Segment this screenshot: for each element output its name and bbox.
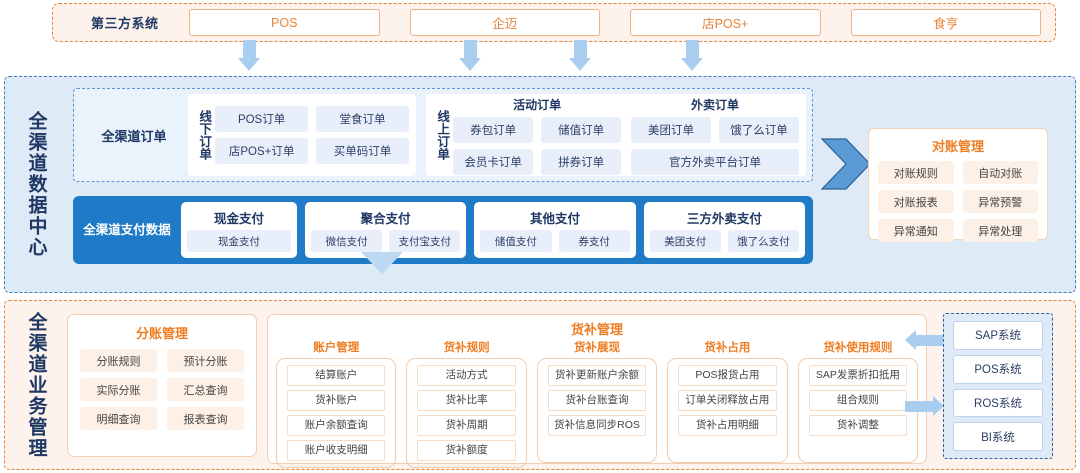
order-chip[interactable]: 官方外卖平台订单 — [631, 149, 799, 175]
online-order-card: 线上订单 活动订单 券包订单 储值订单 会员卡订单 拼券订单 外卖订单 美团订单… — [426, 94, 806, 176]
payment-group-items: 微信支付 支付宝支付 — [311, 230, 460, 252]
huobu-chip[interactable]: 订单关闭释放占用 — [678, 390, 776, 411]
order-chip[interactable]: 买单码订单 — [316, 138, 409, 164]
omni-channel-order-section: 全渠道订单 线下订单 POS订单 堂食订单 店POS+订单 买单码订单 线上订单… — [73, 88, 813, 182]
business-management-container: 全渠道业务管理 分账管理 分账规则 预计分账 实际分账 汇总查询 明细查询 报表… — [4, 300, 1076, 470]
huobu-chip[interactable]: 活动方式 — [417, 365, 515, 386]
down-arrow-icon — [681, 40, 703, 71]
payment-chip[interactable]: 支付宝支付 — [389, 230, 460, 252]
huobu-management-title: 货补管理 — [276, 319, 918, 338]
payment-chip[interactable]: 微信支付 — [311, 230, 382, 252]
huobu-column-title: 货补使用规则 — [798, 339, 918, 355]
split-account-chip[interactable]: 明细查询 — [80, 407, 157, 430]
huobu-chip[interactable]: 货补信息同步ROS — [548, 415, 646, 436]
payment-section-title: 全渠道支付数据 — [81, 222, 173, 238]
huobu-columns: 账户管理 结算账户 货补账户 账户余额查询 账户收支明细 货补规则 活动方式 货… — [276, 339, 918, 463]
payment-chip[interactable]: 储值支付 — [480, 230, 551, 252]
third-party-system-item[interactable]: 食亨 — [851, 9, 1042, 36]
huobu-column-title: 货补占用 — [667, 339, 787, 355]
huobu-chip[interactable]: 货补更新账户余额 — [548, 365, 646, 386]
down-triangle-icon — [361, 252, 403, 274]
split-account-items: 分账规则 预计分账 实际分账 汇总查询 明细查询 报表查询 — [80, 349, 244, 430]
huobu-column: 货补占用 POS报货占用 订单关闭释放占用 货补占用明细 — [667, 339, 787, 463]
split-account-title: 分账管理 — [80, 323, 244, 342]
huobu-column-items: 货补更新账户余额 货补台账查询 货补信息同步ROS — [537, 358, 657, 463]
external-system-item[interactable]: SAP系统 — [953, 321, 1043, 350]
external-system-item[interactable]: POS系统 — [953, 355, 1043, 384]
offline-order-tag: 线下订单 — [197, 110, 210, 160]
business-side-label: 全渠道业务管理 — [19, 301, 53, 469]
reconciliation-management-card: 对账管理 对账规则 自动对账 对账报表 异常预警 异常通知 异常处理 — [868, 128, 1048, 240]
order-chip[interactable]: 店POS+订单 — [215, 138, 308, 164]
payment-group-card: 现金支付 现金支付 — [181, 202, 297, 258]
huobu-chip[interactable]: 结算账户 — [287, 365, 385, 386]
offline-order-card: 线下订单 POS订单 堂食订单 店POS+订单 买单码订单 — [188, 94, 416, 176]
external-systems-container: SAP系统 POS系统 ROS系统 BI系统 — [943, 313, 1053, 459]
chevron-right-icon — [820, 133, 872, 200]
order-chip[interactable]: 储值订单 — [541, 117, 621, 143]
payment-group-title: 三方外卖支付 — [650, 208, 799, 227]
split-account-chip[interactable]: 汇总查询 — [167, 378, 244, 401]
huobu-chip[interactable]: 组合规则 — [809, 390, 907, 411]
right-arrow-icon — [905, 396, 944, 416]
huobu-column: 货补使用规则 SAP发票折扣抵用 组合规则 货补调整 — [798, 339, 918, 463]
huobu-column: 货补规则 活动方式 货补比率 货补周期 货补额度 — [406, 339, 526, 463]
huobu-column-items: POS报货占用 订单关闭释放占用 货补占用明细 — [667, 358, 787, 463]
third-party-system-item[interactable]: 店POS+ — [630, 9, 821, 36]
order-chip[interactable]: 美团订单 — [631, 117, 711, 143]
omni-channel-payment-section: 全渠道支付数据 现金支付 现金支付 聚合支付 微信支付 支付宝支付 其他支付 储… — [73, 196, 813, 264]
reconciliation-title: 对账管理 — [878, 136, 1038, 155]
data-center-side-label: 全渠道数据中心 — [19, 77, 53, 292]
third-party-systems-container: 第三方系统 POS 企迈 店POS+ 食亨 — [52, 3, 1056, 42]
order-chip[interactable]: 会员卡订单 — [453, 149, 533, 175]
huobu-column: 货补展现 货补更新账户余额 货补台账查询 货补信息同步ROS — [537, 339, 657, 463]
third-party-system-item[interactable]: POS — [189, 9, 380, 36]
offline-order-items: POS订单 堂食订单 店POS+订单 买单码订单 — [215, 106, 409, 164]
order-chip[interactable]: 拼券订单 — [541, 149, 621, 175]
data-center-side-label-text: 全渠道数据中心 — [27, 111, 46, 258]
order-chip[interactable]: 券包订单 — [453, 117, 533, 143]
reconciliation-chip[interactable]: 自动对账 — [963, 161, 1039, 184]
left-arrow-icon — [905, 330, 944, 350]
split-account-chip[interactable]: 实际分账 — [80, 378, 157, 401]
payment-chip[interactable]: 现金支付 — [187, 230, 291, 252]
order-chip[interactable]: POS订单 — [215, 106, 308, 132]
payment-group-items: 现金支付 — [187, 230, 291, 252]
order-section-title: 全渠道订单 — [80, 126, 188, 145]
third-party-label: 第三方系统 — [67, 13, 189, 32]
split-account-chip[interactable]: 分账规则 — [80, 349, 157, 372]
activity-order-group: 活动订单 券包订单 储值订单 会员卡订单 拼券订单 — [453, 96, 621, 175]
down-arrow-icon — [569, 40, 591, 71]
reconciliation-chip[interactable]: 异常处理 — [963, 219, 1039, 242]
order-chip[interactable]: 饿了么订单 — [719, 117, 799, 143]
payment-group-title: 现金支付 — [187, 208, 291, 227]
payment-group-card: 其他支付 储值支付 券支付 — [474, 202, 635, 258]
takeaway-order-title: 外卖订单 — [631, 96, 799, 113]
external-system-item[interactable]: ROS系统 — [953, 389, 1043, 418]
payment-group-items: 美团支付 饿了么支付 — [650, 230, 799, 252]
huobu-column-title: 货补展现 — [537, 339, 657, 355]
activity-order-items: 券包订单 储值订单 会员卡订单 拼券订单 — [453, 117, 621, 175]
huobu-chip[interactable]: 货补台账查询 — [548, 390, 646, 411]
huobu-column-items: SAP发票折扣抵用 组合规则 货补调整 — [798, 358, 918, 463]
payment-group-title: 聚合支付 — [311, 208, 460, 227]
huobu-management-card: 货补管理 账户管理 结算账户 货补账户 账户余额查询 账户收支明细 货补规则 活… — [267, 314, 927, 464]
payment-group-card: 聚合支付 微信支付 支付宝支付 — [305, 202, 466, 258]
reconciliation-chip[interactable]: 对账规则 — [878, 161, 954, 184]
third-party-system-list: POS 企迈 店POS+ 食亨 — [189, 9, 1041, 36]
huobu-column-title: 货补规则 — [406, 339, 526, 355]
huobu-chip[interactable]: SAP发票折扣抵用 — [809, 365, 907, 386]
activity-order-title: 活动订单 — [453, 96, 621, 113]
huobu-chip[interactable]: 货补调整 — [809, 415, 907, 436]
payment-group-title: 其他支付 — [480, 208, 629, 227]
split-account-chip[interactable]: 报表查询 — [167, 407, 244, 430]
payment-chip[interactable]: 美团支付 — [650, 230, 721, 252]
split-account-management-card: 分账管理 分账规则 预计分账 实际分账 汇总查询 明细查询 报表查询 — [67, 314, 257, 457]
order-chip[interactable]: 堂食订单 — [316, 106, 409, 132]
huobu-chip[interactable]: 货补周期 — [417, 415, 515, 436]
huobu-chip[interactable]: 账户收支明细 — [287, 440, 385, 461]
third-party-system-item[interactable]: 企迈 — [410, 9, 601, 36]
business-side-label-text: 全渠道业务管理 — [27, 312, 46, 459]
payment-group-card: 三方外卖支付 美团支付 饿了么支付 — [644, 202, 805, 258]
huobu-column-title: 账户管理 — [276, 339, 396, 355]
takeaway-order-group: 外卖订单 美团订单 饿了么订单 官方外卖平台订单 — [631, 96, 799, 175]
takeaway-order-items: 美团订单 饿了么订单 官方外卖平台订单 — [631, 117, 799, 175]
payment-group-items: 储值支付 券支付 — [480, 230, 629, 252]
huobu-column-items: 结算账户 货补账户 账户余额查询 账户收支明细 — [276, 358, 396, 468]
huobu-column-items: 活动方式 货补比率 货补周期 货补额度 — [406, 358, 526, 468]
payment-chip[interactable]: 饿了么支付 — [728, 230, 799, 252]
huobu-column: 账户管理 结算账户 货补账户 账户余额查询 账户收支明细 — [276, 339, 396, 463]
huobu-chip[interactable]: 货补比率 — [417, 390, 515, 411]
online-order-tag: 线上订单 — [435, 110, 448, 160]
reconciliation-chip[interactable]: 异常通知 — [878, 219, 954, 242]
huobu-chip[interactable]: POS报货占用 — [678, 365, 776, 386]
reconciliation-chip[interactable]: 对账报表 — [878, 190, 954, 213]
external-system-item[interactable]: BI系统 — [953, 422, 1043, 451]
huobu-chip[interactable]: 账户余额查询 — [287, 415, 385, 436]
split-account-chip[interactable]: 预计分账 — [167, 349, 244, 372]
payment-chip[interactable]: 券支付 — [559, 230, 630, 252]
down-arrow-icon — [238, 40, 260, 71]
huobu-chip[interactable]: 货补占用明细 — [678, 415, 776, 436]
down-arrow-icon — [459, 40, 481, 71]
reconciliation-items: 对账规则 自动对账 对账报表 异常预警 异常通知 异常处理 — [878, 161, 1038, 242]
reconciliation-chip[interactable]: 异常预警 — [963, 190, 1039, 213]
huobu-chip[interactable]: 货补额度 — [417, 440, 515, 461]
huobu-chip[interactable]: 货补账户 — [287, 390, 385, 411]
